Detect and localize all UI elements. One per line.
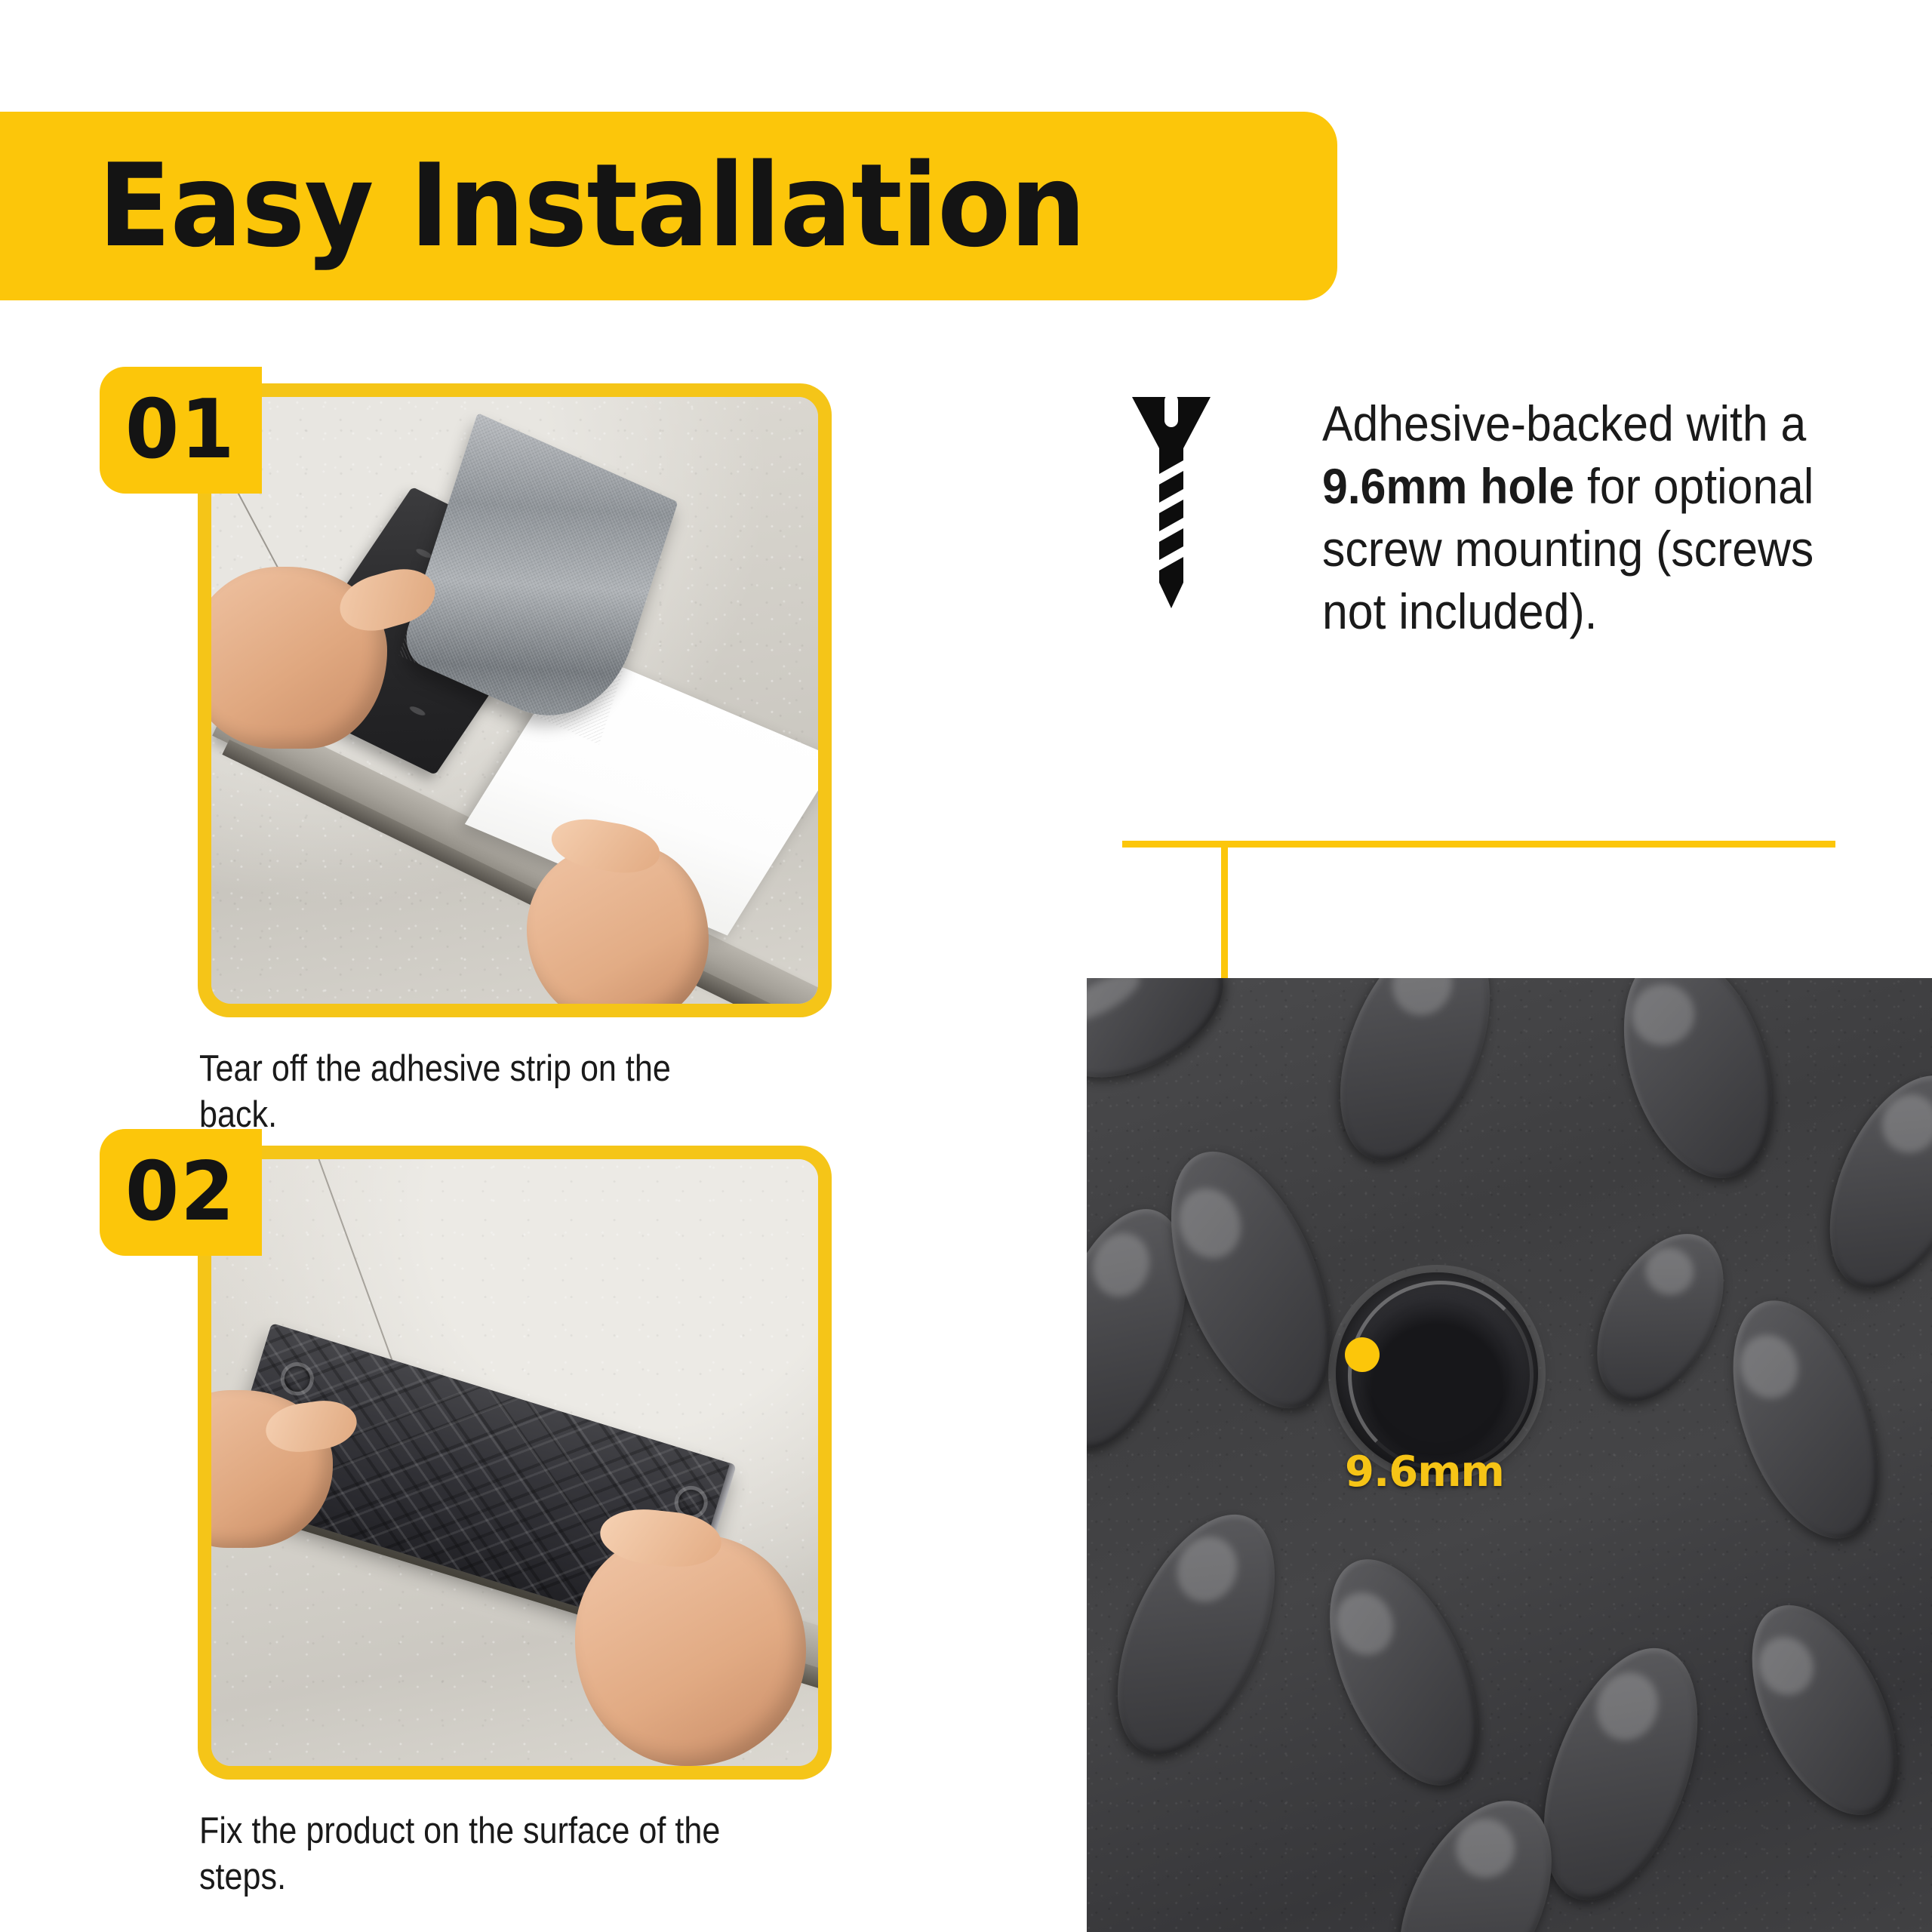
feature-text-bold: 9.6mm hole bbox=[1322, 458, 1574, 514]
step-photo-02 bbox=[211, 1159, 818, 1766]
step-card-02: 02 bbox=[100, 1129, 884, 1808]
step-card-01: 01 Tear off the adhesive strip on the ba… bbox=[100, 367, 884, 1046]
screw-hole-recess bbox=[1336, 1272, 1538, 1475]
hand-right bbox=[575, 1535, 806, 1766]
callout-endpoint-dot bbox=[1345, 1337, 1380, 1372]
step-photo-frame-02 bbox=[198, 1146, 832, 1780]
infographic-canvas: Easy Installation 01 Tear off the adhe bbox=[0, 0, 1932, 1932]
step-number-01: 01 bbox=[125, 389, 236, 471]
step-caption-02: Fix the product on the surface of the st… bbox=[199, 1808, 731, 1900]
screw-icon bbox=[1126, 392, 1217, 619]
step-badge-01: 01 bbox=[100, 367, 262, 494]
feature-description: Adhesive-backed with a 9.6mm hole for op… bbox=[1322, 392, 1857, 644]
title-banner: Easy Installation bbox=[0, 112, 1337, 300]
step-photo-01 bbox=[211, 397, 818, 1004]
page-title: Easy Installation bbox=[98, 149, 1085, 263]
step-caption-01: Tear off the adhesive strip on the back. bbox=[199, 1046, 731, 1138]
callout-line-horizontal bbox=[1122, 841, 1835, 848]
step-photo-frame-01 bbox=[198, 383, 832, 1017]
hole-size-label: 9.6mm bbox=[1345, 1447, 1541, 1497]
step-badge-02: 02 bbox=[100, 1129, 262, 1256]
feature-text-before: Adhesive-backed with a bbox=[1322, 395, 1806, 451]
step-number-02: 02 bbox=[125, 1152, 236, 1233]
